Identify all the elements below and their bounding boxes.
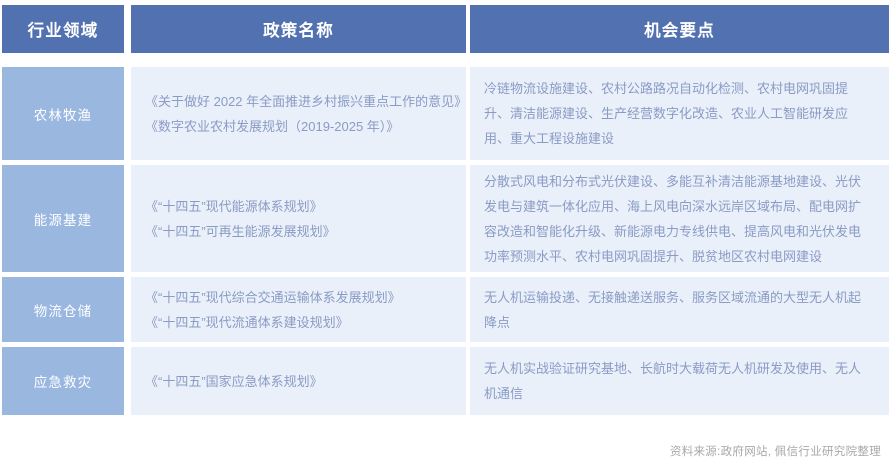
column-header-opportunity-points: 机会要点 [470, 5, 889, 53]
table-body: 农林牧渔 《关于做好 2022 年全面推进乡村振兴重点工作的意见》 《数字农业农… [0, 67, 889, 420]
table-header-row: 行业领域 政策名称 机会要点 [0, 5, 889, 53]
column-header-policy-name: 政策名称 [131, 5, 466, 53]
policy-line: 《“十四五”现代能源体系规划》 [145, 194, 456, 219]
source-note: 资料来源:政府网站, 佩信行业研究院整理 [670, 443, 881, 459]
policy-opportunity-table-page: 行业领域 政策名称 机会要点 农林牧渔 《关于做好 2022 年全面推进乡村振兴… [0, 0, 889, 469]
policy-line: 《“十四五”国家应急体系规划》 [145, 369, 456, 394]
cell-industry-field: 应急救灾 [2, 347, 124, 415]
cell-industry-field: 物流仓储 [2, 277, 124, 342]
cell-policy-name: 《关于做好 2022 年全面推进乡村振兴重点工作的意见》 《数字农业农村发展规划… [131, 67, 466, 160]
column-header-industry-field: 行业领域 [2, 5, 124, 53]
cell-policy-name: 《“十四五”现代能源体系规划》 《“十四五”可再生能源发展规划》 [131, 165, 466, 272]
cell-industry-field: 能源基建 [2, 165, 124, 272]
table-row: 应急救灾 《“十四五”国家应急体系规划》 无人机实战验证研究基地、长航时大载荷无… [0, 347, 889, 415]
table-row: 物流仓储 《“十四五”现代综合交通运输体系发展规划》 《“十四五”现代流通体系建… [0, 277, 889, 342]
table-row: 能源基建 《“十四五”现代能源体系规划》 《“十四五”可再生能源发展规划》 分散… [0, 165, 889, 272]
cell-industry-field: 农林牧渔 [2, 67, 124, 160]
cell-opportunity-points: 无人机实战验证研究基地、长航时大载荷无人机研发及使用、无人机通信 [470, 347, 889, 415]
policy-line: 《“十四五”可再生能源发展规划》 [145, 219, 456, 244]
cell-opportunity-points: 冷链物流设施建设、农村公路路况自动化检测、农村电网巩固提升、清洁能源建设、生产经… [470, 67, 889, 160]
policy-line: 《数字农业农村发展规划（2019-2025 年）》 [145, 114, 456, 139]
table-row: 农林牧渔 《关于做好 2022 年全面推进乡村振兴重点工作的意见》 《数字农业农… [0, 67, 889, 160]
cell-opportunity-points: 无人机运输投递、无接触递送服务、服务区域流通的大型无人机起降点 [470, 277, 889, 342]
policy-line: 《关于做好 2022 年全面推进乡村振兴重点工作的意见》 [145, 89, 456, 114]
policy-line: 《“十四五”现代流通体系建设规划》 [145, 310, 456, 335]
cell-policy-name: 《“十四五”国家应急体系规划》 [131, 347, 466, 415]
policy-line: 《“十四五”现代综合交通运输体系发展规划》 [145, 285, 456, 310]
cell-policy-name: 《“十四五”现代综合交通运输体系发展规划》 《“十四五”现代流通体系建设规划》 [131, 277, 466, 342]
cell-opportunity-points: 分散式风电和分布式光伏建设、多能互补清洁能源基地建设、光伏发电与建筑一体化应用、… [470, 165, 889, 272]
